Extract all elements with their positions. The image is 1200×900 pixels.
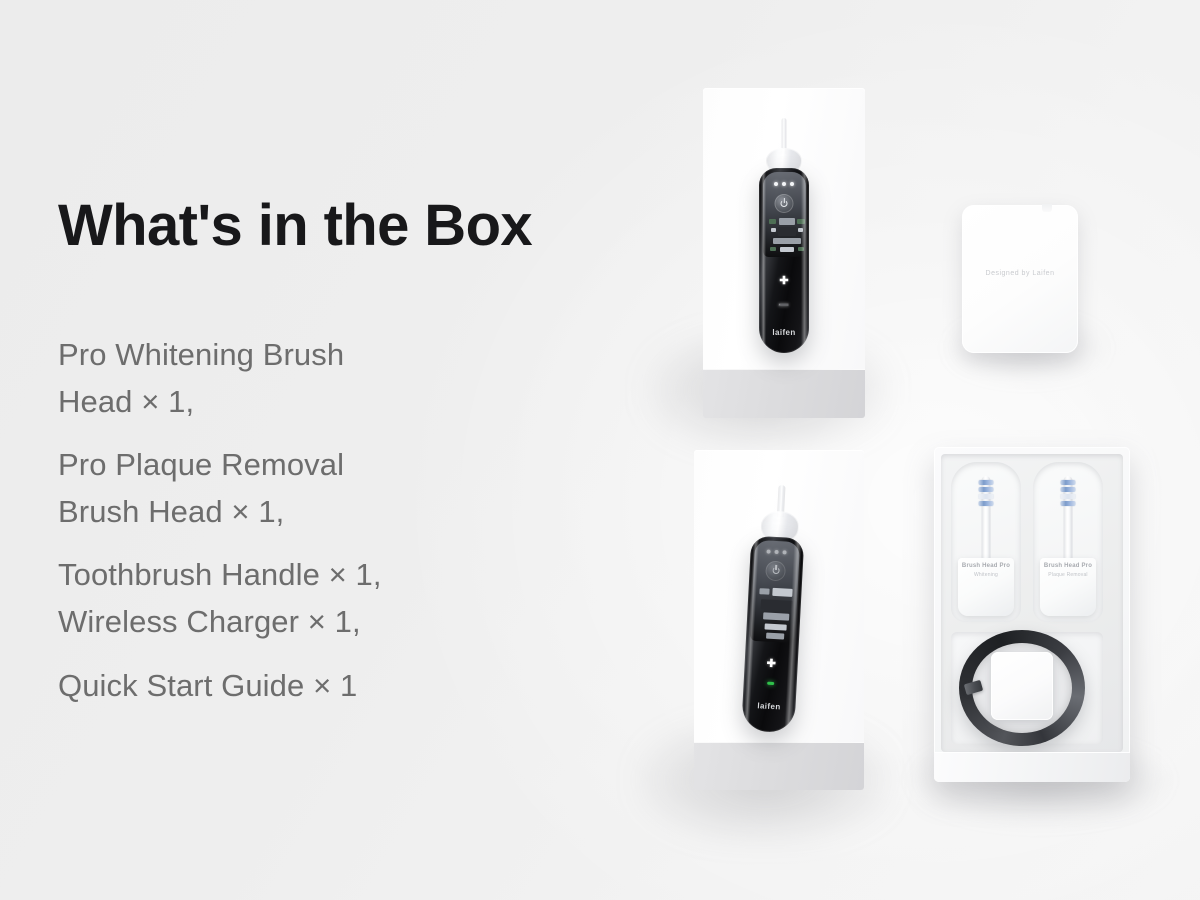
intensity-up-button[interactable]: ✚ <box>766 659 776 670</box>
bristle-tuft <box>1061 494 1076 499</box>
handle-transparent-window <box>763 172 806 257</box>
pcb-component <box>769 219 776 224</box>
toothbrush-handle-top: ✚ ➖ laifen <box>753 118 815 378</box>
bristle-tuft <box>1061 501 1076 506</box>
pcb-component <box>763 612 789 620</box>
bristle-tuft <box>979 501 994 506</box>
led-dot <box>774 182 778 186</box>
power-icon <box>772 567 779 574</box>
list-item: Wireless Charger × 1, <box>58 598 618 645</box>
brush-head-label-base: Brush Head Pro Whitening <box>958 558 1014 616</box>
brush-head-subtitle: Plaque Removal <box>1040 572 1096 578</box>
led-dot <box>790 182 794 186</box>
bristle-tuft <box>1061 480 1076 485</box>
pcb-component <box>760 599 792 611</box>
top-riser-assembly: ✚ ➖ laifen <box>703 88 865 418</box>
bottom-riser-assembly: ✚ laifen <box>694 450 864 790</box>
power-icon <box>781 200 788 207</box>
brand-wordmark: laifen <box>757 701 781 711</box>
wireless-charger-pad <box>991 652 1053 720</box>
pcb-component <box>778 227 796 236</box>
led-dot <box>775 550 779 554</box>
brush-head-plaque-removal: Brush Head Pro Plaque Removal <box>1033 462 1103 622</box>
brush-head-title: Brush Head Pro <box>1040 563 1096 569</box>
bristle-tuft <box>979 494 994 499</box>
pcb-component <box>771 228 776 232</box>
list-item: Pro Plaque Removal <box>58 441 618 488</box>
bristle-group <box>1061 480 1076 506</box>
brush-head-title: Brush Head Pro <box>958 563 1014 569</box>
brand-wordmark: laifen <box>772 328 795 337</box>
handle-gloss <box>801 168 808 353</box>
bristle-tuft <box>1061 487 1076 492</box>
handle-body: ✚ laifen <box>741 536 804 734</box>
list-item: Quick Start Guide × 1 <box>58 662 618 709</box>
intensity-down-button[interactable]: ➖ <box>778 301 789 310</box>
handle-body-wrap: ✚ ➖ laifen <box>759 168 809 353</box>
page-title: What's in the Box <box>58 196 618 257</box>
tray-inner-cavity: Brush Head Pro Whitening Brush Head Pro … <box>941 454 1123 752</box>
pcb-component <box>770 247 776 251</box>
bristle-tuft <box>979 480 994 485</box>
pcb-component <box>779 218 795 225</box>
list-item: Head × 1, <box>58 378 618 425</box>
handle-body: ✚ ➖ laifen <box>759 168 809 353</box>
led-indicator-group <box>767 549 787 554</box>
intensity-up-button[interactable]: ✚ <box>779 276 788 287</box>
power-button[interactable] <box>775 194 794 213</box>
list-item: Pro Whitening Brush <box>58 331 618 378</box>
pcb-component <box>766 632 784 639</box>
handle-gloss <box>761 168 766 353</box>
pcb-component <box>780 247 794 252</box>
brush-head-whitening: Brush Head Pro Whitening <box>951 462 1021 622</box>
led-dot <box>783 550 787 554</box>
pcb-component <box>772 588 792 597</box>
list-item: Brush Head × 1, <box>58 488 618 535</box>
led-indicator-group <box>774 182 794 186</box>
led-dot <box>767 549 771 553</box>
copy-block: What's in the Box Pro Whitening Brush He… <box>58 196 618 709</box>
box-contents-list: Pro Whitening Brush Head × 1, Pro Plaque… <box>58 331 618 709</box>
guide-notch <box>1042 204 1052 212</box>
pcb-component <box>773 238 801 244</box>
status-led <box>767 682 774 685</box>
pcb-component <box>764 623 786 630</box>
power-button[interactable] <box>766 560 787 581</box>
quick-start-guide: Designed by Laifen <box>962 205 1078 353</box>
led-dot <box>782 182 786 186</box>
pcb-component <box>759 588 769 595</box>
list-item: Toothbrush Handle × 1, <box>58 551 618 598</box>
handle-body-wrap: ✚ laifen <box>741 536 804 734</box>
tray-front-wall <box>934 752 1130 782</box>
bristle-group <box>979 480 994 506</box>
brush-head-label-base: Brush Head Pro Plaque Removal <box>1040 558 1096 616</box>
brush-head-subtitle: Whitening <box>958 572 1014 578</box>
toothbrush-handle-bottom: ✚ laifen <box>733 483 817 756</box>
product-scene: What's in the Box Pro Whitening Brush He… <box>0 0 1200 900</box>
guide-caption: Designed by Laifen <box>962 270 1078 277</box>
accessory-tray: Brush Head Pro Whitening Brush Head Pro … <box>934 447 1130 782</box>
bristle-tuft <box>979 487 994 492</box>
